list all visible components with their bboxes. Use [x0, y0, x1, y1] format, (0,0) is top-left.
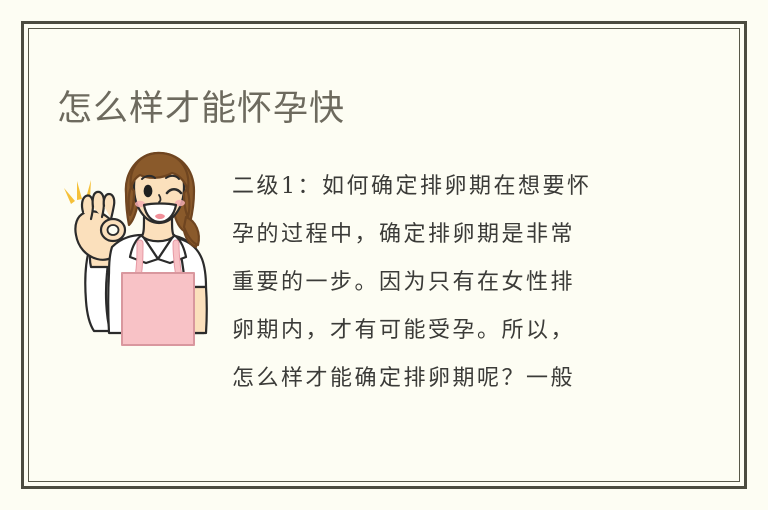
- body-line: 孕的过程中，确定排卵期是非常: [232, 211, 662, 259]
- article-body: 二级1：如何确定排卵期在想要怀 孕的过程中，确定排卵期是非常 重要的一步。因为只…: [232, 163, 662, 403]
- page-title: 怎么样才能怀孕快: [57, 86, 345, 132]
- body-line: 怎么样才能确定排卵期呢？一般: [232, 355, 662, 403]
- body-line: 卵期内，才有可能受孕。所以，: [232, 307, 662, 355]
- body-line: 重要的一步。因为只有在女性排: [232, 259, 662, 307]
- open-eye: [144, 185, 153, 197]
- winking-woman-ok-gesture-illustration: [60, 143, 210, 348]
- body-line: 二级1：如何确定排卵期在想要怀: [232, 163, 662, 211]
- article-card: 怎么样才能怀孕快: [0, 0, 768, 510]
